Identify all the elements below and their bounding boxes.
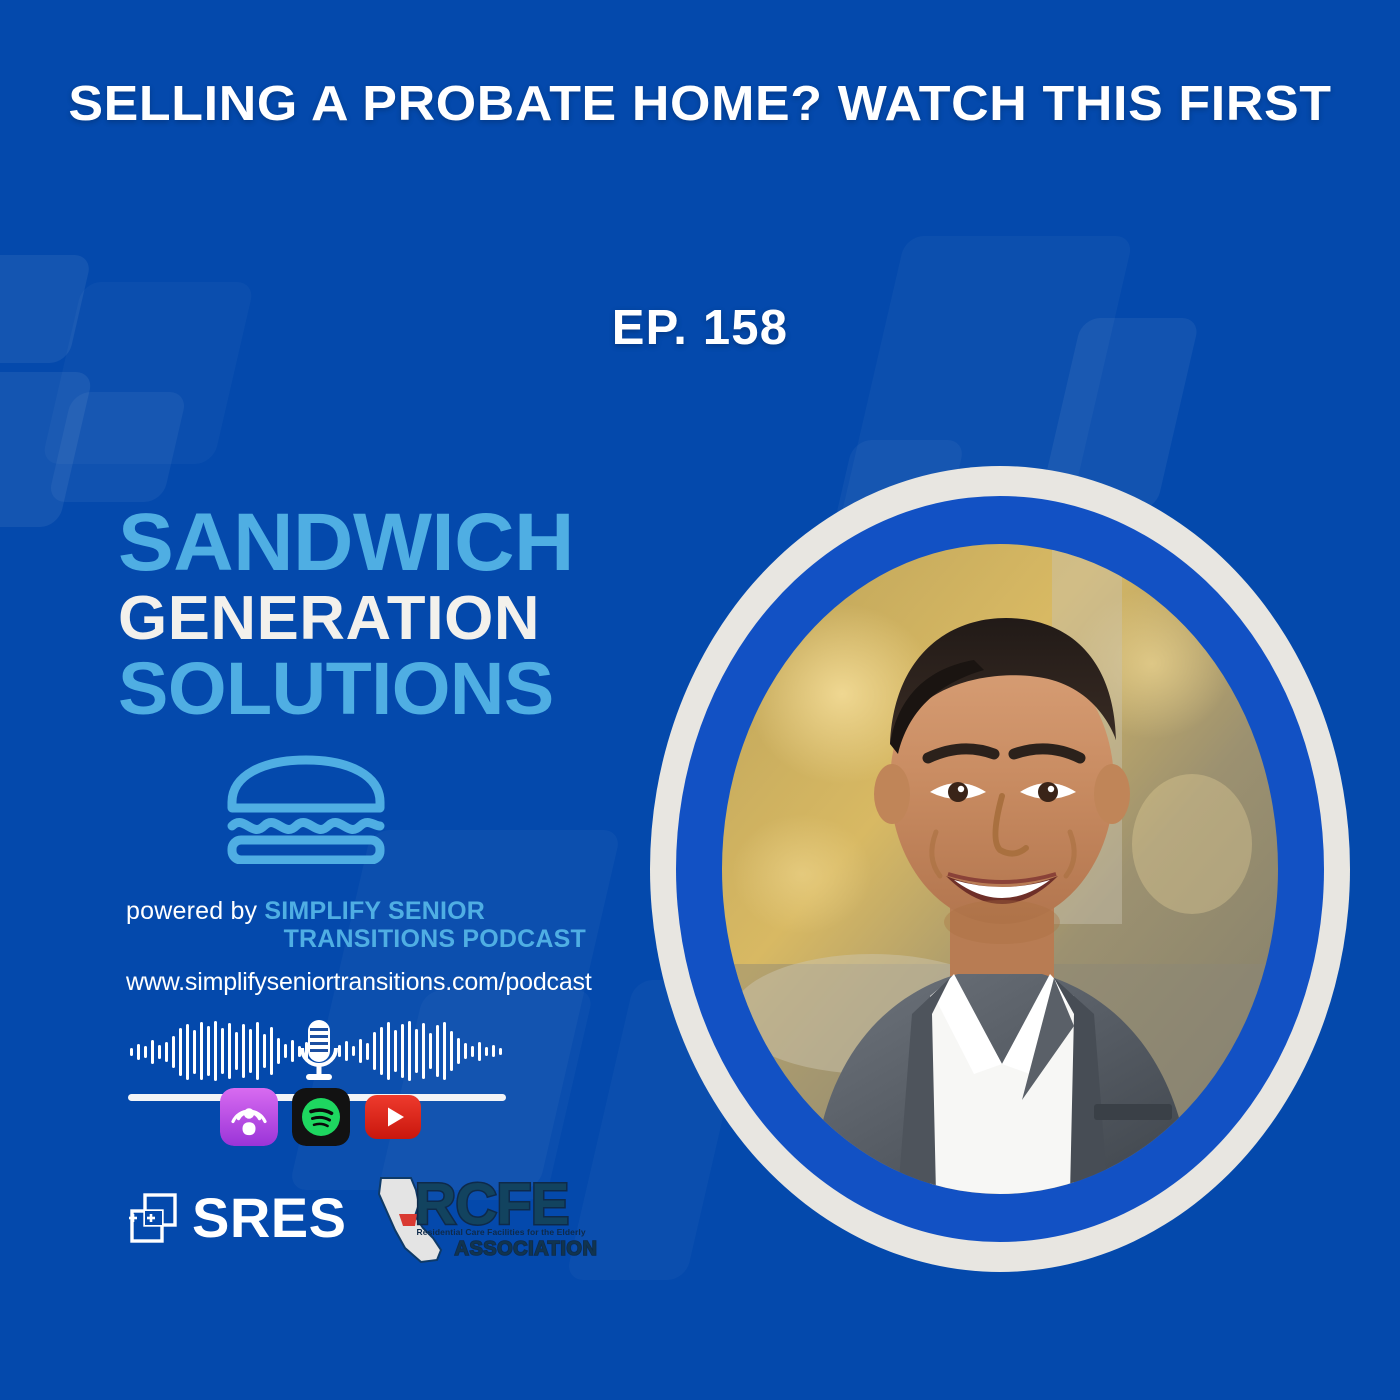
waveform-icon: [128, 1018, 508, 1084]
podcast-cover: SELLING A PROBATE HOME? WATCH THIS FIRST…: [0, 0, 1400, 1400]
rcfe-label: RCFE: [415, 1176, 569, 1234]
spotify-icon[interactable]: [292, 1088, 350, 1146]
avatar: [722, 544, 1278, 1194]
brand-line-sandwich: SANDWICH: [118, 505, 597, 580]
brand-line-generation: GENERATION: [118, 590, 597, 647]
rcfe-tagline: Residential Care Facilities for the Elde…: [417, 1227, 586, 1237]
brand-block: SANDWICH GENERATION SOLUTIONS powered by…: [118, 505, 588, 997]
episode-number: EP. 158: [430, 300, 970, 356]
bg-parallelogram: [47, 392, 187, 502]
bg-parallelogram: [0, 255, 92, 363]
platform-badges: [220, 1088, 422, 1146]
powered-by-prefix: powered by: [126, 897, 264, 925]
sres-squares-icon: [126, 1189, 180, 1247]
partner-logos: SRES RCFE Residential Care Facilities fo…: [126, 1172, 567, 1264]
apple-podcasts-icon[interactable]: [220, 1088, 278, 1146]
brand-line-solutions: SOLUTIONS: [118, 655, 597, 723]
powered-by-name-line1: SIMPLIFY SENIOR: [264, 897, 485, 925]
rcfe-logo: RCFE Residential Care Facilities for the…: [371, 1172, 567, 1264]
powered-by-name-line2: TRANSITIONS PODCAST: [126, 925, 588, 954]
sres-logo: SRES: [126, 1189, 347, 1247]
sres-label: SRES: [192, 1190, 347, 1246]
youtube-icon[interactable]: [364, 1088, 422, 1146]
host-portrait: [650, 466, 1350, 1272]
bg-parallelogram: [0, 372, 94, 527]
sandwich-icon: [222, 752, 588, 869]
page-title: SELLING A PROBATE HOME? WATCH THIS FIRST: [0, 76, 1400, 132]
bg-parallelogram: [41, 282, 255, 464]
rcfe-sublabel: ASSOCIATION: [455, 1238, 598, 1261]
powered-by-block: powered by SIMPLIFY SENIOR TRANSITIONS P…: [126, 897, 588, 954]
website-url: www.simplifyseniortransitions.com/podcas…: [126, 968, 588, 997]
